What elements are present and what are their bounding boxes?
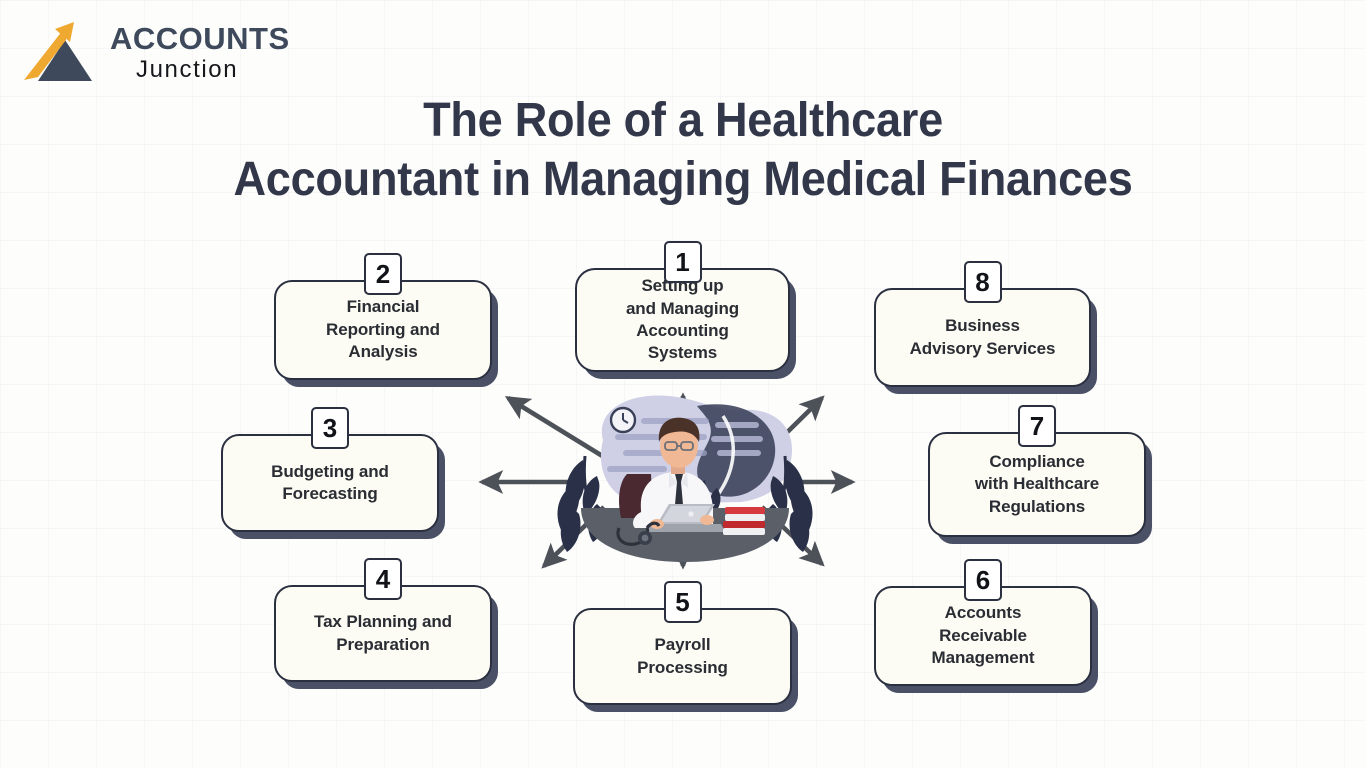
- node-4-label: Tax Planning and Preparation: [314, 611, 452, 656]
- node-8-number: 8: [964, 261, 1002, 303]
- healthcare-accountant-at-laptop-illustration: [545, 388, 825, 570]
- node-5-number: 5: [664, 581, 702, 623]
- node-2[interactable]: 2 Financial Reporting and Analysis: [274, 280, 492, 380]
- wall-clock-icon: [611, 408, 635, 432]
- node-2-number: 2: [364, 253, 402, 295]
- node-1[interactable]: 1 Setting up and Managing Accounting Sys…: [575, 268, 790, 372]
- node-3[interactable]: 3 Budgeting and Forecasting: [221, 434, 439, 532]
- node-5-label: Payroll Processing: [637, 634, 728, 679]
- node-1-number: 1: [664, 241, 702, 283]
- node-2-box[interactable]: Financial Reporting and Analysis: [274, 280, 492, 380]
- node-6-box[interactable]: Accounts Receivable Management: [874, 586, 1092, 686]
- books-stack-icon: [723, 507, 765, 535]
- node-6-number: 6: [964, 559, 1002, 601]
- node-3-number: 3: [311, 407, 349, 449]
- node-7-number: 7: [1018, 405, 1056, 447]
- node-8[interactable]: 8 Business Advisory Services: [874, 288, 1091, 387]
- node-1-label: Setting up and Managing Accounting Syste…: [626, 275, 739, 365]
- node-1-box[interactable]: Setting up and Managing Accounting Syste…: [575, 268, 790, 372]
- node-4[interactable]: 4 Tax Planning and Preparation: [274, 585, 492, 682]
- node-2-label: Financial Reporting and Analysis: [326, 296, 440, 363]
- infographic-canvas: ACCOUNTS Junction The Role of a Healthca…: [0, 0, 1366, 768]
- node-7-box[interactable]: Compliance with Healthcare Regulations: [928, 432, 1146, 537]
- node-4-number: 4: [364, 558, 402, 600]
- node-6[interactable]: 6 Accounts Receivable Management: [874, 586, 1092, 686]
- node-8-label: Business Advisory Services: [910, 315, 1056, 360]
- node-6-label: Accounts Receivable Management: [932, 602, 1035, 669]
- node-3-label: Budgeting and Forecasting: [271, 461, 389, 506]
- node-5[interactable]: 5 Payroll Processing: [573, 608, 792, 705]
- node-7-label: Compliance with Healthcare Regulations: [975, 451, 1099, 518]
- node-7[interactable]: 7 Compliance with Healthcare Regulations: [928, 432, 1146, 537]
